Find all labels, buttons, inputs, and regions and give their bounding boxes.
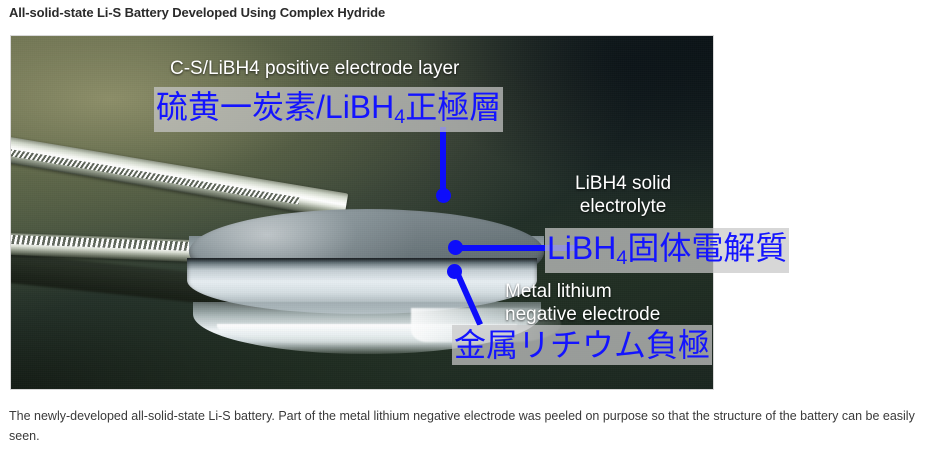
label-positive-electrode-english: C-S/LiBH4 positive electrode layer (170, 57, 459, 80)
figure-container: C-S/LiBH4 positive electrode layer LiBH4… (0, 0, 934, 400)
leader-line-positive-electrode (440, 127, 446, 194)
label-solid-electrolyte-japanese-suffix: 固体電解質 (627, 230, 787, 266)
label-solid-electrolyte-japanese-prefix: LiBH (547, 230, 616, 266)
tweezer-upper-serration (10, 148, 299, 204)
label-solid-electrolyte-japanese-subscript: 4 (616, 247, 627, 269)
label-negative-electrode-english: Metal lithium negative electrode (505, 280, 660, 326)
label-positive-electrode-japanese: 硫黄一炭素/LiBH4正極層 (154, 87, 503, 132)
leader-dot-negative-electrode (447, 264, 462, 279)
figure-caption: The newly-developed all-solid-state Li-S… (9, 406, 925, 446)
label-positive-electrode-japanese-prefix: 硫黄一炭素/LiBH (156, 89, 394, 125)
label-positive-electrode-japanese-suffix: 正極層 (405, 89, 501, 125)
label-solid-electrolyte-english: LiBH4 solid electrolyte (575, 172, 671, 218)
label-solid-electrolyte-japanese: LiBH4固体電解質 (545, 228, 789, 273)
label-positive-electrode-japanese-subscript: 4 (394, 106, 405, 128)
label-negative-electrode-japanese-prefix: 金属リチウム負極 (454, 327, 710, 363)
label-negative-electrode-japanese: 金属リチウム負極 (452, 325, 712, 365)
leader-dot-positive-electrode (436, 188, 451, 203)
leader-dot-solid-electrolyte (448, 240, 463, 255)
